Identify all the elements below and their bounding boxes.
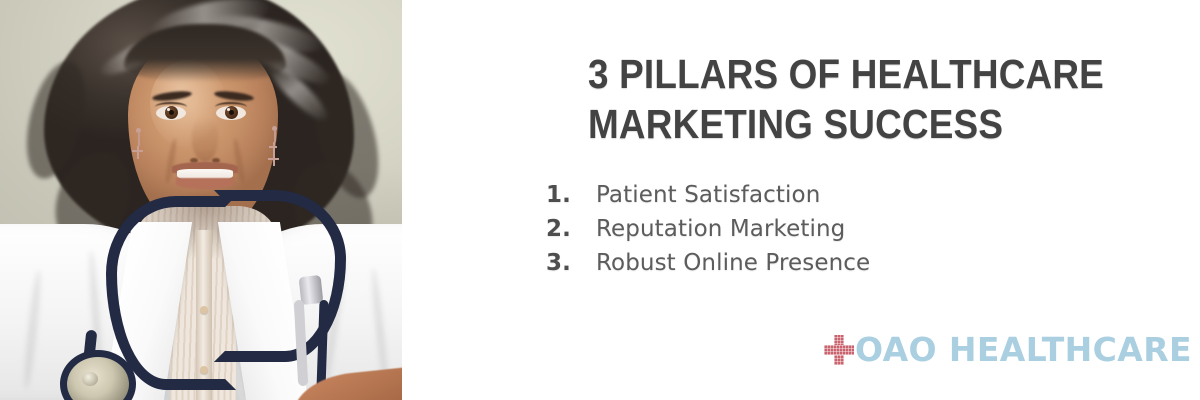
doctor-photo — [0, 0, 402, 400]
eyelid-left — [155, 102, 187, 112]
list-item-number: 3. — [546, 246, 596, 280]
nose — [192, 118, 218, 162]
stethoscope-diaphragm — [82, 372, 98, 386]
list-item-label: Patient Satisfaction — [596, 178, 820, 212]
list-item: 3. Robust Online Presence — [546, 246, 870, 280]
lower-lip — [176, 178, 234, 189]
list-item: 1. Patient Satisfaction — [546, 178, 870, 212]
pillars-list: 1. Patient Satisfaction 2. Reputation Ma… — [546, 178, 870, 280]
page-title-line-2: MARKETING SUCCESS — [588, 99, 1119, 149]
list-item-number: 1. — [546, 178, 596, 212]
brand-logo-text: OAO HEALTHCARE — [855, 333, 1192, 367]
page-title-line-1: 3 PILLARS OF HEALTHCARE — [588, 49, 1119, 99]
page-title: 3 PILLARS OF HEALTHCARE MARKETING SUCCES… — [588, 49, 1119, 149]
list-item-number: 2. — [546, 212, 596, 246]
content-area: 3 PILLARS OF HEALTHCARE MARKETING SUCCES… — [402, 0, 1200, 400]
list-item: 2. Reputation Marketing — [546, 212, 870, 246]
mouth — [172, 162, 238, 188]
list-item-label: Robust Online Presence — [596, 246, 870, 280]
list-item-label: Reputation Marketing — [596, 212, 845, 246]
medical-cross-icon — [824, 335, 854, 365]
slide-canvas: 3 PILLARS OF HEALTHCARE MARKETING SUCCES… — [0, 0, 1200, 400]
brand-logo: OAO HEALTHCARE — [824, 326, 1192, 374]
eyelid-right — [215, 102, 247, 112]
